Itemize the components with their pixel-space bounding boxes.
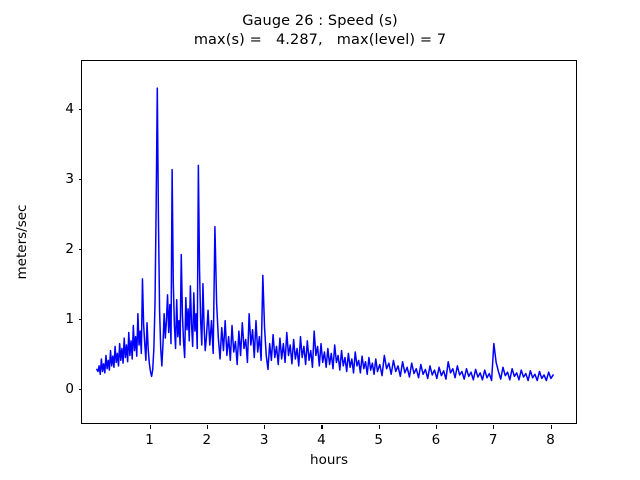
x-tick-mark xyxy=(493,425,494,429)
x-tick-label: 3 xyxy=(260,432,269,448)
y-tick-label: 0 xyxy=(65,381,74,397)
x-tick-mark xyxy=(321,425,322,429)
speed-series-line xyxy=(82,61,576,423)
y-tick-label: 2 xyxy=(65,241,74,257)
y-tick-label: 3 xyxy=(65,171,74,187)
y-tick-mark xyxy=(79,389,83,390)
x-tick-mark xyxy=(150,425,151,429)
chart-subtitle: max(s) = 4.287, max(level) = 7 xyxy=(0,31,640,50)
y-tick-mark xyxy=(79,249,83,250)
x-axis-label: hours xyxy=(81,452,577,468)
x-tick-mark xyxy=(551,425,552,429)
x-tick-mark xyxy=(264,425,265,429)
x-tick-label: 4 xyxy=(317,432,326,448)
chart-title-block: Gauge 26 : Speed (s) max(s) = 4.287, max… xyxy=(0,12,640,50)
x-tick-mark xyxy=(207,425,208,429)
x-tick-mark xyxy=(436,425,437,429)
y-axis-label: meters/sec xyxy=(14,205,30,280)
matplotlib-figure: Gauge 26 : Speed (s) max(s) = 4.287, max… xyxy=(0,0,640,480)
x-tick-label: 5 xyxy=(374,432,383,448)
x-tick-label: 8 xyxy=(546,432,555,448)
y-tick-mark xyxy=(79,109,83,110)
y-tick-mark xyxy=(79,319,83,320)
y-tick-label: 4 xyxy=(65,101,74,117)
plot-axes: 0123412345678 xyxy=(81,60,577,424)
x-tick-label: 1 xyxy=(145,432,154,448)
y-tick-label: 1 xyxy=(65,311,74,327)
x-tick-label: 7 xyxy=(489,432,498,448)
page-title: Gauge 26 : Speed (s) xyxy=(0,12,640,31)
x-tick-label: 2 xyxy=(203,432,212,448)
x-tick-mark xyxy=(379,425,380,429)
x-tick-label: 6 xyxy=(432,432,441,448)
y-tick-mark xyxy=(79,179,83,180)
